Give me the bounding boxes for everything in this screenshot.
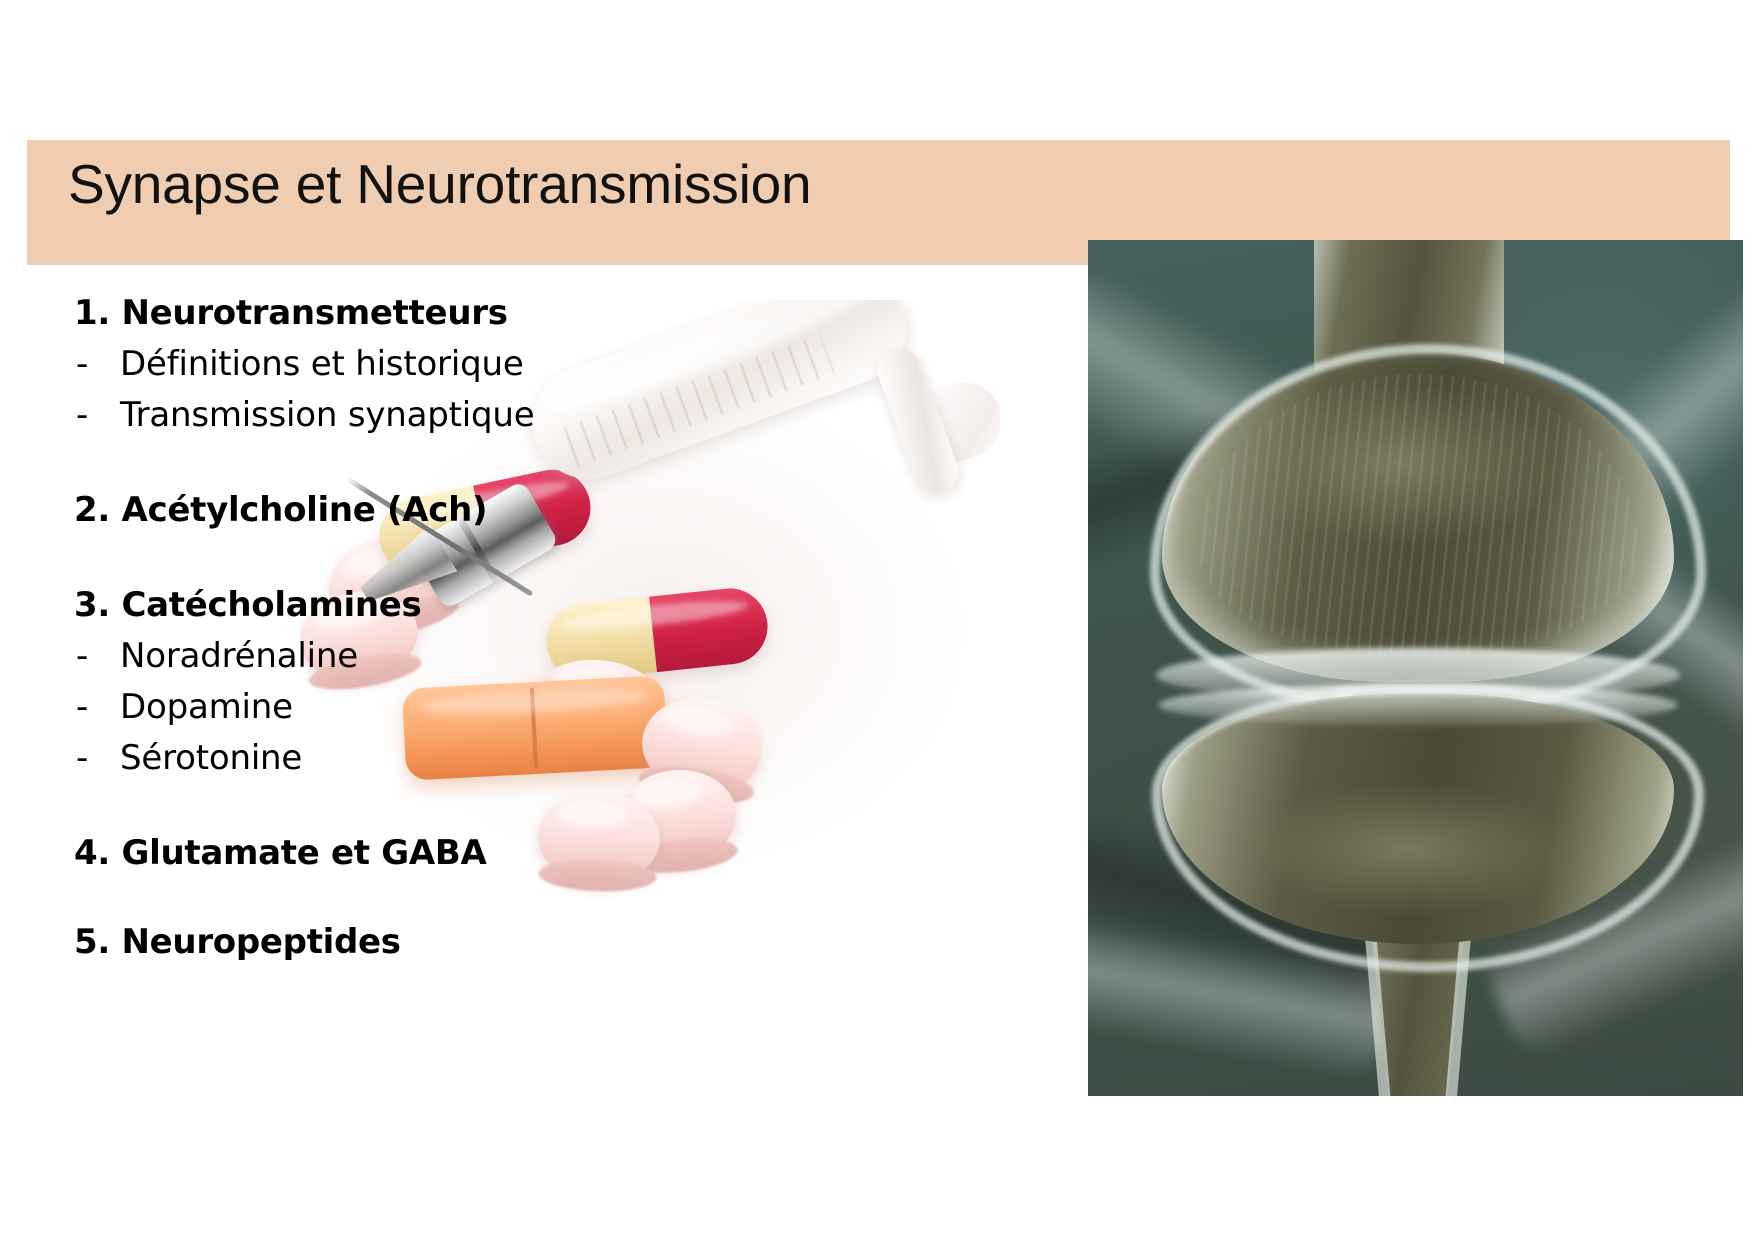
outline-subitem-definitions: - Définitions et historique <box>74 339 694 390</box>
outline-subitem-serotonine: - Sérotonine <box>74 733 694 784</box>
outline-subitem-transmission: - Transmission synaptique <box>74 390 694 441</box>
bullet-dash: - <box>76 390 88 441</box>
outline-subitem-label: Définitions et historique <box>120 344 524 384</box>
outline-subitem-dopamine: - Dopamine <box>74 682 694 733</box>
outline-heading-4: 4. Glutamate et GABA <box>74 828 694 879</box>
bullet-dash: - <box>76 631 88 682</box>
presynaptic-terminal <box>1138 240 1698 704</box>
page-title: Synapse et Neurotransmission <box>68 152 811 216</box>
synapse-micrograph <box>1088 240 1743 1096</box>
outline-subitem-label: Transmission synaptique <box>120 395 534 435</box>
bullet-dash: - <box>76 339 88 390</box>
outline-subitem-label: Dopamine <box>120 687 293 727</box>
outline-subitem-label: Noradrénaline <box>120 636 358 676</box>
bullet-dash: - <box>76 733 88 784</box>
bullet-dash: - <box>76 682 88 733</box>
outline-subitem-noradrenaline: - Noradrénaline <box>74 631 694 682</box>
outline-subitem-label: Sérotonine <box>120 738 302 778</box>
postsynaptic-terminal <box>1132 684 1704 1096</box>
slide-canvas: Synapse et Neurotransmission <box>0 0 1755 1240</box>
outline-heading-1: 1. Neurotransmetteurs <box>74 288 694 339</box>
outline-gap <box>74 784 694 828</box>
outline-gap <box>74 879 694 917</box>
outline-heading-2: 2. Acétylcholine (Ach) <box>74 485 694 536</box>
outline-list: 1. Neurotransmetteurs - Définitions et h… <box>74 288 694 968</box>
postsynaptic-receptor-zone <box>1158 684 1678 726</box>
outline-heading-3: 3. Catécholamines <box>74 580 694 631</box>
outline-gap <box>74 536 694 580</box>
postsynaptic-membrane <box>1152 684 1704 972</box>
outline-gap <box>74 441 694 485</box>
outline-heading-5: 5. Neuropeptides <box>74 917 694 968</box>
